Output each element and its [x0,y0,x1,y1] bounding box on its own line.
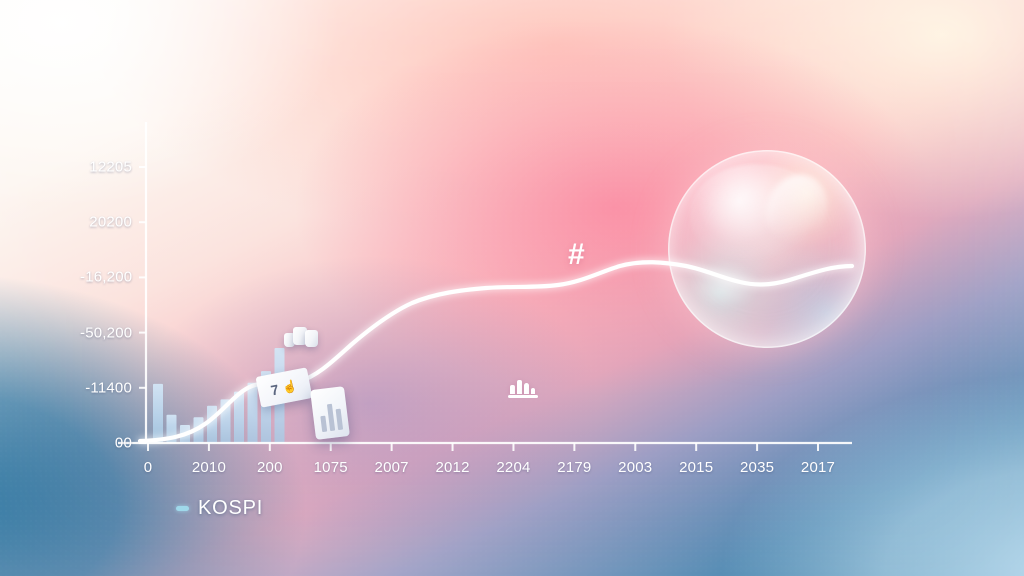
mini-bar-4 [531,388,535,394]
price-tag-number: 7 [269,381,280,398]
x-axis-tick-label: 1075 [314,459,348,476]
mini-chart-baseline [508,395,538,398]
x-axis-tick-label: 2179 [557,459,591,476]
cube-piece-right [305,330,318,347]
x-axis-tick-label: 2010 [192,459,226,476]
y-axis-tick-label: -16,200 [80,269,132,286]
x-axis-tick-label: 2035 [740,459,774,476]
mini-bar-2 [517,380,522,394]
y-axis-tick-label: -11400 [80,379,132,396]
legend-label-kospi: KOSPI [198,497,263,520]
x-axis-tick-label: 2017 [801,459,835,476]
x-axis-tick-label: 2012 [435,459,469,476]
x-axis-tick-label: 2204 [496,459,530,476]
trend-line-kospi [140,262,852,441]
x-axis-ticks [148,443,818,451]
x-axis-tick-label: 0 [144,459,153,476]
cube-cluster-decoration [284,325,324,351]
x-axis-tick-label: 2007 [375,459,409,476]
chart-canvas [0,0,1024,576]
card-bar-1 [320,416,327,432]
mini-bar-3 [524,383,529,394]
y-axis-tick-label: -50,200 [80,324,132,341]
card-bar-3 [336,409,344,430]
y-axis-tick-label: 00 [80,435,132,452]
hashtag-icon: # [568,240,585,270]
card-bar-2 [327,404,335,431]
mini-bar-1 [510,385,515,394]
bar [248,383,258,443]
bar [207,406,217,443]
bar-chart-card-decoration [310,386,350,440]
x-axis-tick-label: 2015 [679,459,713,476]
y-axis-tick-label: 12205 [80,159,132,176]
hand-pointer-icon: ☝ [281,378,298,395]
x-axis-tick-label: 200 [257,459,283,476]
bar [153,384,163,443]
legend-marker-kospi [176,506,189,511]
chart-legend: KOSPI [176,497,263,520]
chart-illustration-canvas: 1220520200-16,200-50,200-1140000 0201020… [0,0,1024,576]
y-axis-tick-label: 20200 [80,214,132,231]
mini-bar-chart-icon [508,375,538,399]
x-axis-tick-label: 2003 [618,459,652,476]
